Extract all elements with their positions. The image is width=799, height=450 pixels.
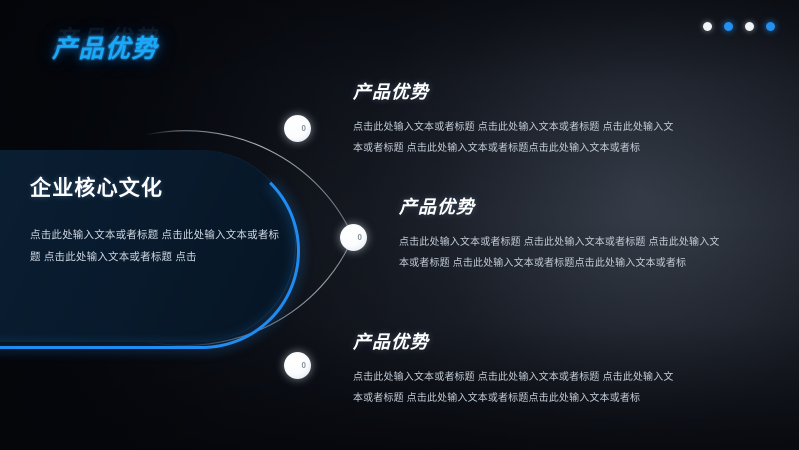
decorative-dots [703,22,775,31]
dot-2-icon [724,22,733,31]
feature-item-1-heading: 产品优势 [353,78,681,104]
card-heading: 企业核心文化 [30,172,282,202]
node-marker-1-label: 0 [302,124,306,133]
node-marker-3[interactable]: 0 [284,352,311,379]
node-marker-2[interactable]: 0 [340,224,367,251]
node-marker-3-label: 0 [302,361,306,370]
dot-1-icon [703,22,712,31]
feature-item-2: 产品优势 点击此处输入文本或者标题 点击此处输入文本或者标题 点击此处输入文本或… [399,193,727,274]
node-marker-2-label: 0 [358,233,362,242]
page-title: 产品优势 [52,29,158,65]
feature-item-3-heading: 产品优势 [353,328,681,354]
dot-3-icon [745,22,754,31]
card-body-text: 点击此处输入文本或者标题 点击此处输入文本或者标题 点击此处输入文本或者标题 点… [30,224,282,268]
slide-canvas: 产品优势 产品优势 企业核心文化 点击此处输入文本或者标题 点击此处输入文本或者… [0,0,799,450]
node-marker-1[interactable]: 0 [284,115,311,142]
feature-item-2-body: 点击此处输入文本或者标题 点击此处输入文本或者标题 点击此处输入文本或者标题 点… [399,232,727,274]
card-content: 企业核心文化 点击此处输入文本或者标题 点击此处输入文本或者标题 点击此处输入文… [30,172,282,268]
feature-item-1: 产品优势 点击此处输入文本或者标题 点击此处输入文本或者标题 点击此处输入文本或… [353,78,681,159]
feature-item-1-body: 点击此处输入文本或者标题 点击此处输入文本或者标题 点击此处输入文本或者标题 点… [353,117,681,159]
dot-4-icon [766,22,775,31]
feature-item-3: 产品优势 点击此处输入文本或者标题 点击此处输入文本或者标题 点击此处输入文本或… [353,328,681,409]
core-culture-card: 企业核心文化 点击此处输入文本或者标题 点击此处输入文本或者标题 点击此处输入文… [0,150,300,346]
feature-item-3-body: 点击此处输入文本或者标题 点击此处输入文本或者标题 点击此处输入文本或者标题 点… [353,367,681,409]
feature-item-2-heading: 产品优势 [399,193,727,219]
